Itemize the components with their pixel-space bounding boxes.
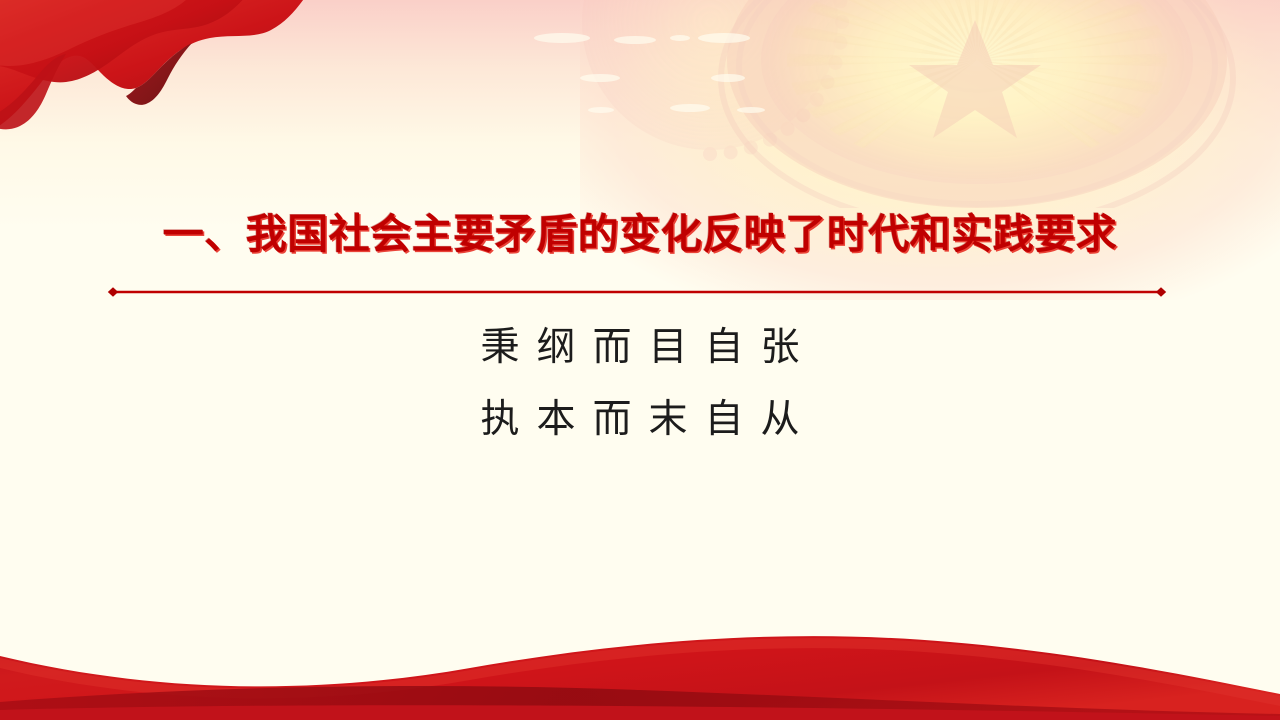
calligraphy-line-1: 秉纲而目自张 [0,312,1280,384]
diamond-ended-divider [107,287,1167,297]
calligraphy-block: 秉纲而目自张 执本而末自从 [0,312,1280,456]
slide-content: 一、我国社会主要矛盾的变化反映了时代和实践要求 秉纲而目自张 执本而末自从 [0,0,1280,720]
calligraphy-line-2: 执本而末自从 [0,384,1280,456]
page-title: 一、我国社会主要矛盾的变化反映了时代和实践要求 [0,209,1280,259]
slide-canvas: 一、我国社会主要矛盾的变化反映了时代和实践要求 秉纲而目自张 执本而末自从 [0,0,1280,720]
